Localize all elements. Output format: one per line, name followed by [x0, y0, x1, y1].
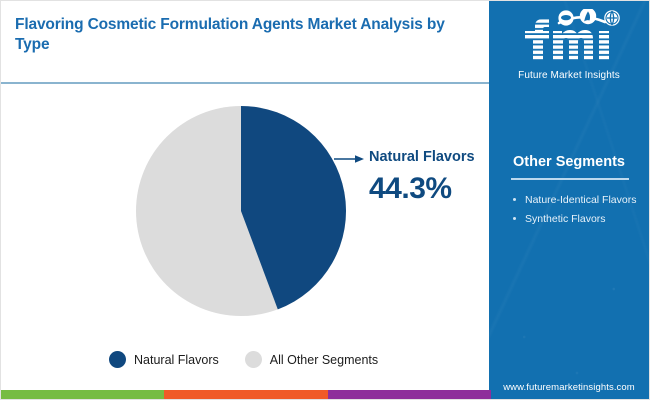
fmi-logo[interactable]: Future Market Insights [489, 9, 649, 81]
bottom-colorbar [1, 390, 491, 399]
infographic-root: Flavoring Cosmetic Formulation Agents Ma… [0, 0, 650, 400]
list-item: Nature-Identical Flavors [511, 193, 641, 207]
sidebar-panel: Future Market Insights Other Segments Na… [489, 1, 649, 400]
legend-item-label: All Other Segments [270, 353, 378, 367]
colorbar-segment-purple [328, 390, 491, 399]
legend-swatch-icon [245, 351, 262, 368]
chart-legend: Natural Flavors All Other Segments [109, 351, 378, 368]
page-title: Flavoring Cosmetic Formulation Agents Ma… [15, 15, 475, 56]
arrow-right-icon [334, 152, 364, 166]
website-url[interactable]: www.futuremarketinsights.com [489, 382, 649, 393]
fmi-logo-icon [503, 9, 635, 67]
other-segments-list: Nature-Identical Flavors Synthetic Flavo… [511, 193, 641, 231]
legend-swatch-icon [109, 351, 126, 368]
colorbar-segment-orange [164, 390, 327, 399]
callout-label: Natural Flavors [369, 149, 475, 165]
list-item: Synthetic Flavors [511, 212, 641, 226]
legend-item: Natural Flavors [109, 351, 219, 368]
sidebar-heading: Other Segments [489, 154, 649, 170]
sidebar-heading-underline [511, 178, 629, 180]
fmi-logo-tagline: Future Market Insights [489, 70, 649, 81]
colorbar-segment-green [1, 390, 164, 399]
pie-chart [136, 106, 346, 316]
callout-value: 44.3% [369, 172, 452, 206]
legend-item-label: Natural Flavors [134, 353, 219, 367]
legend-item: All Other Segments [245, 351, 378, 368]
pie-chart-svg [136, 106, 346, 316]
header-divider [1, 82, 491, 84]
